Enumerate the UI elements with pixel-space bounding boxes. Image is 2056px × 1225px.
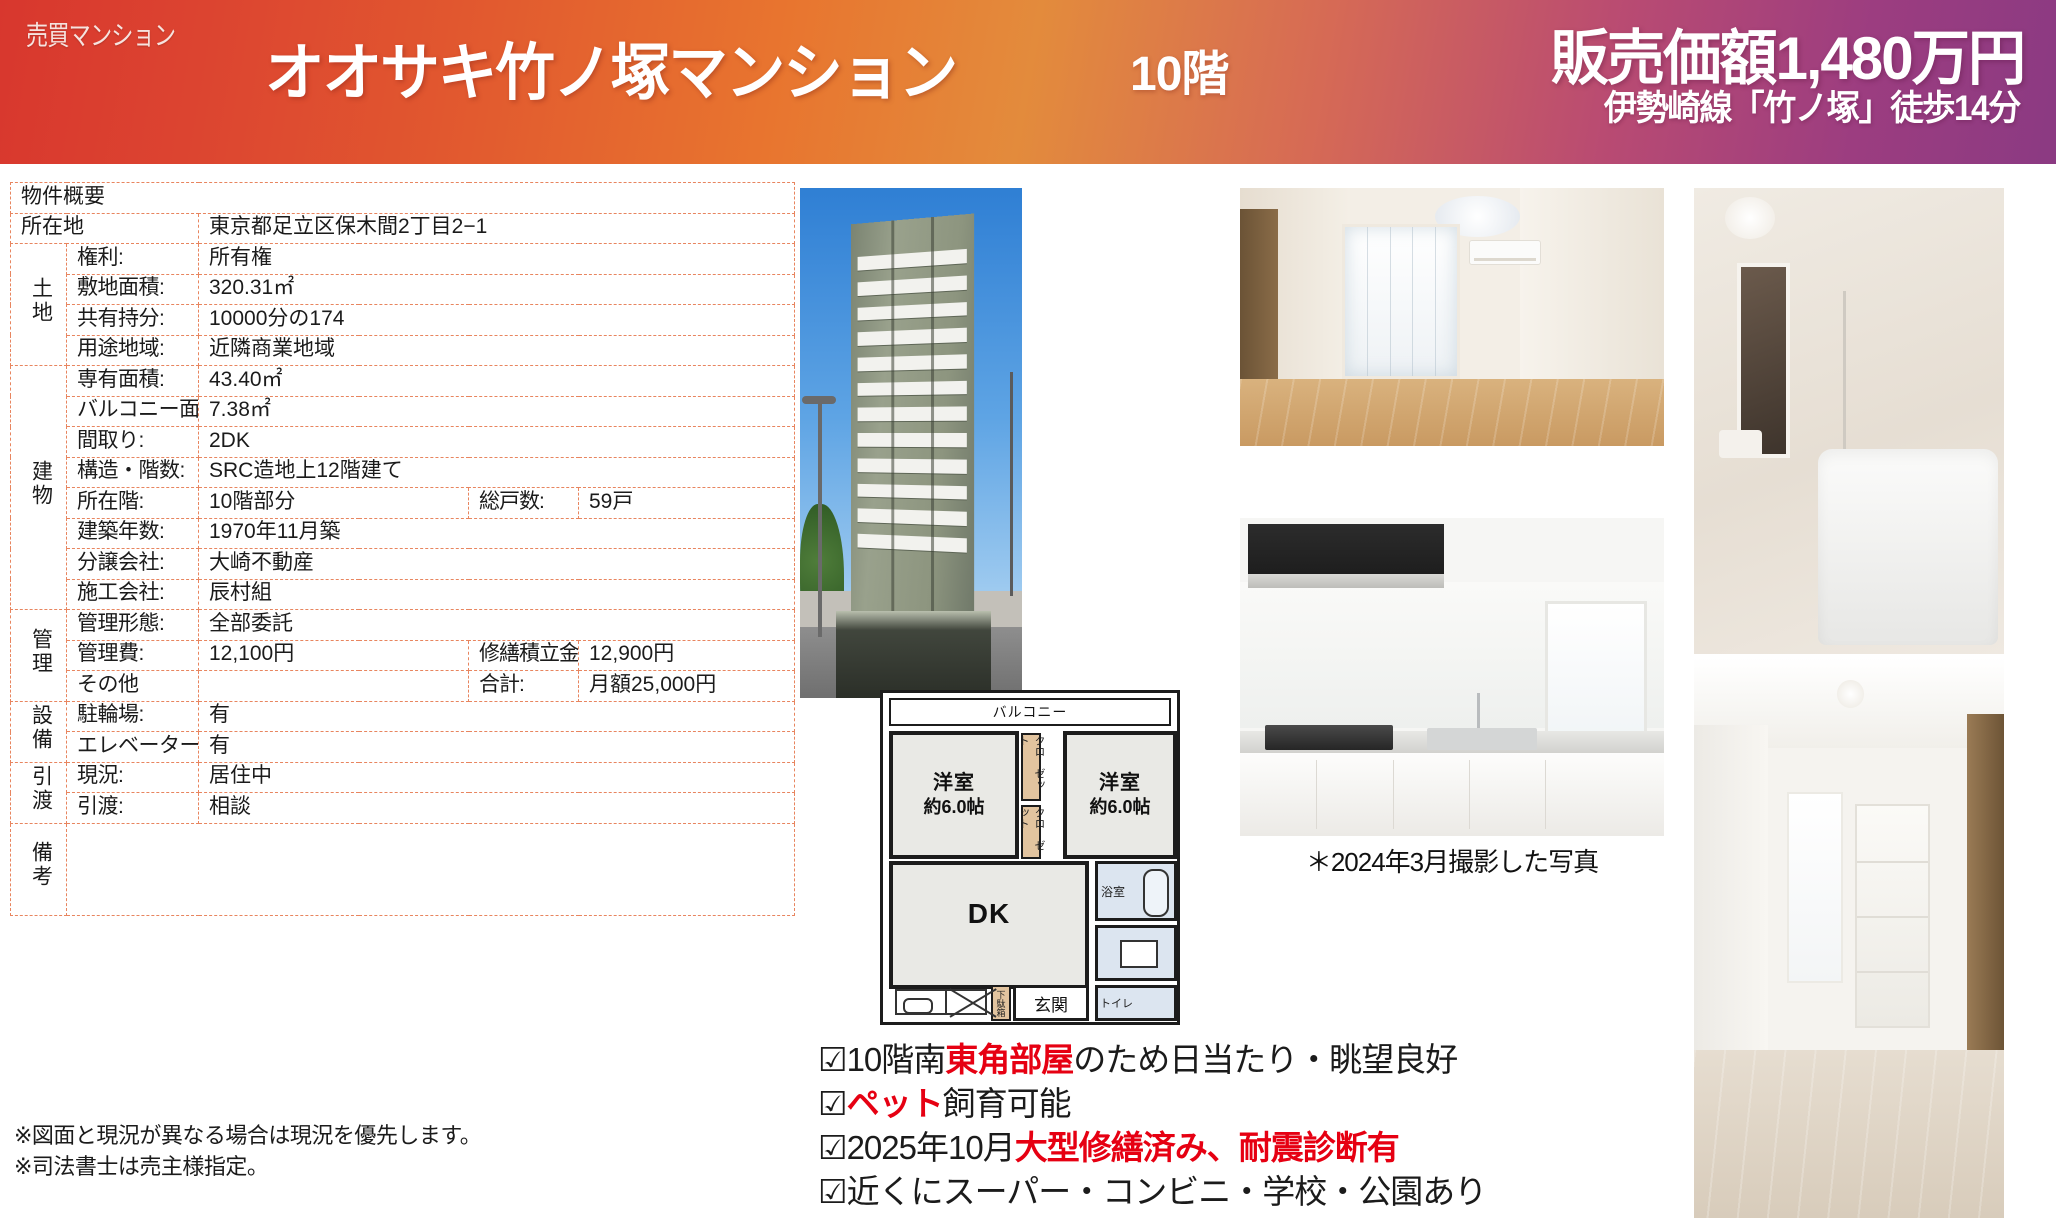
- header-kicker: 売買マンション: [26, 14, 175, 53]
- group-label-land: 土地: [11, 244, 67, 366]
- row-label: 駐輪場:: [67, 701, 199, 732]
- row-label: 専有面積:: [67, 366, 199, 397]
- plan-bath: 浴室: [1095, 861, 1177, 921]
- floor-plan-diagram: バルコニー 洋室 約6.0帖 洋室 約6.0帖 クローゼット クローゼット DK…: [880, 690, 1180, 1025]
- range-hood: [1248, 524, 1443, 588]
- plan-balcony: バルコニー: [889, 698, 1171, 726]
- row-label: その他: [67, 671, 199, 702]
- table-row: 敷地面積: 320.31㎡: [11, 274, 795, 305]
- row-value-2: 59戸: [579, 488, 795, 519]
- feature-bullets: ☑10階南東角部屋のため日当たり・眺望良好 ☑ペット飼育可能 ☑2025年10月…: [818, 1038, 1918, 1214]
- row-label: 管理費:: [67, 640, 199, 671]
- table-row: バルコニー面積: 7.38㎡: [11, 396, 795, 427]
- footnotes: ※図面と現況が異なる場合は現況を優先します。 ※司法書士は売主様指定。: [14, 1120, 481, 1182]
- row-value: SRC造地上12階建て: [199, 457, 795, 488]
- row-value: 居住中: [199, 762, 795, 793]
- group-label-management: 管理: [11, 610, 67, 702]
- plan-bathtub-icon: [1143, 869, 1169, 917]
- list-item: ☑ペット飼育可能: [818, 1082, 1918, 1126]
- plan-room-2: 洋室 約6.0帖: [1063, 731, 1177, 859]
- table-row: 建築年数: 1970年11月築: [11, 518, 795, 549]
- group-label-building: 建物: [11, 366, 67, 610]
- row-value-2: 12,900円: [579, 640, 795, 671]
- group-label-handover: 引渡: [11, 762, 67, 823]
- row-label: 建築年数:: [67, 518, 199, 549]
- plan-dk: DK: [889, 861, 1089, 989]
- table-row: 建物 専有面積: 43.40㎡: [11, 366, 795, 397]
- remarks-value: [67, 823, 795, 915]
- row-value: 有: [199, 732, 795, 763]
- bathtub: [1818, 449, 1998, 645]
- row-value: 43.40㎡: [199, 366, 795, 397]
- table-row: 所在地 東京都足立区保木間2丁目2−1: [11, 213, 795, 244]
- header-floor: 10階: [1130, 34, 1228, 104]
- cabinets: [1240, 753, 1664, 836]
- row-label: 引渡:: [67, 793, 199, 824]
- list-item: ☑近くにスーパー・コンビニ・学校・公園あり: [818, 1170, 1918, 1214]
- row-value: 7.38㎡: [199, 396, 795, 427]
- row-label: エレベーター:: [67, 732, 199, 763]
- row-label: 用途地域:: [67, 335, 199, 366]
- row-value: 所有権: [199, 244, 795, 275]
- group-label-equipment: 設備: [11, 701, 67, 762]
- row-value: 大崎不動産: [199, 549, 795, 580]
- row-value: 近隣商業地域: [199, 335, 795, 366]
- row-value: [199, 671, 469, 702]
- row-value: 12,100円: [199, 640, 469, 671]
- row-value: 有: [199, 701, 795, 732]
- table-row: 共有持分: 10000分の174: [11, 305, 795, 336]
- gas-stove: [1265, 725, 1392, 750]
- table-row: 物件概要: [11, 183, 795, 214]
- table-row: 間取り: 2DK: [11, 427, 795, 458]
- header-access: 伊勢崎線「竹ノ塚」徒歩14分: [1604, 80, 2020, 131]
- bathroom-interior: [1694, 188, 2004, 654]
- footnote-1: ※図面と現況が異なる場合は現況を優先します。: [14, 1120, 481, 1151]
- table-row: 備考: [11, 823, 795, 915]
- table-row: エレベーター: 有: [11, 732, 795, 763]
- row-value: 1970年11月築: [199, 518, 795, 549]
- row-label: 敷地面積:: [67, 274, 199, 305]
- street-lamp: [818, 402, 822, 637]
- room-interior: [1240, 188, 1664, 446]
- property-spec-table: 物件概要 所在地 東京都足立区保木間2丁目2−1 土地 権利: 所有権 敷地面積…: [10, 182, 794, 916]
- row-value: 相談: [199, 793, 795, 824]
- row-label-2: 合計:: [469, 671, 579, 702]
- plan-washroom: [1095, 925, 1177, 981]
- window: [1342, 224, 1461, 379]
- row-value: 2DK: [199, 427, 795, 458]
- row-label: 所在階:: [67, 488, 199, 519]
- row-label: バルコニー面積:: [67, 396, 199, 427]
- table-row: 所在階: 10階部分 総戸数: 59戸: [11, 488, 795, 519]
- bath-mirror: [1737, 263, 1790, 459]
- group-label-remarks: 備考: [11, 823, 67, 915]
- table-row: 用途地域: 近隣商業地域: [11, 335, 795, 366]
- header-banner: 売買マンション オオサキ竹ノ塚マンション 10階 販売価額1,480万円 伊勢崎…: [0, 0, 2056, 164]
- row-label: 施工会社:: [67, 579, 199, 610]
- spec-section-title: 物件概要: [11, 183, 795, 214]
- row-label: 管理形態:: [67, 610, 199, 641]
- row-value: 辰村組: [199, 579, 795, 610]
- row-value: 全部委託: [199, 610, 795, 641]
- row-value: 320.31㎡: [199, 274, 795, 305]
- kitchen-photo: [1240, 518, 1664, 836]
- row-value-2: 月額25,000円: [579, 671, 795, 702]
- row-label: 共有持分:: [67, 305, 199, 336]
- list-item: ☑2025年10月大型修繕済み、耐震診断有: [818, 1126, 1918, 1170]
- row-value: 10階部分: [199, 488, 469, 519]
- row-label: 構造・階数:: [67, 457, 199, 488]
- photo-caption: ＊2024年3月撮影した写真: [1240, 842, 1664, 879]
- plan-toilet: トイレ: [1095, 985, 1177, 1021]
- sink: [1427, 728, 1537, 750]
- plan-room-1: 洋室 約6.0帖: [889, 731, 1019, 859]
- table-row: 土地 権利: 所有権: [11, 244, 795, 275]
- table-row: その他 合計: 月額25,000円: [11, 671, 795, 702]
- utility-pole: [1010, 372, 1013, 596]
- table-row: 施工会社: 辰村組: [11, 579, 795, 610]
- row-label: 権利:: [67, 244, 199, 275]
- ground-floor-shops: [836, 611, 991, 698]
- plan-storage-icon: [945, 989, 987, 1015]
- address-label: 所在地: [11, 213, 199, 244]
- list-item: ☑10階南東角部屋のため日当たり・眺望良好: [818, 1038, 1918, 1082]
- table-row: 管理 管理形態: 全部委託: [11, 610, 795, 641]
- door: [1240, 209, 1278, 390]
- building: [851, 213, 974, 652]
- towel-rail: [1719, 430, 1762, 458]
- row-label: 現況:: [67, 762, 199, 793]
- plan-closet-1: クローゼット: [1021, 733, 1041, 801]
- bath-light-icon: [1725, 197, 1775, 239]
- row-label: 間取り:: [67, 427, 199, 458]
- table-row: 構造・階数: SRC造地上12階建て: [11, 457, 795, 488]
- wood-floor: [1240, 379, 1664, 446]
- footnote-2: ※司法書士は売主様指定。: [14, 1151, 481, 1182]
- table-row: 管理費: 12,100円 修繕積立金: 12,900円: [11, 640, 795, 671]
- row-label-2: 修繕積立金:: [469, 640, 579, 671]
- shelving-unit: [1855, 804, 1929, 1028]
- table-row: 引渡 現況: 居住中: [11, 762, 795, 793]
- plan-closet-2: クローゼット: [1021, 805, 1041, 859]
- row-value: 10000分の174: [199, 305, 795, 336]
- row-label: 分譲会社:: [67, 549, 199, 580]
- air-conditioner: [1469, 240, 1541, 266]
- table-row: 分譲会社: 大崎不動産: [11, 549, 795, 580]
- address-value: 東京都足立区保木間2丁目2−1: [199, 213, 795, 244]
- faucet: [1477, 693, 1480, 728]
- living-window: [1787, 792, 1843, 982]
- plan-entrance: 玄関: [1013, 985, 1089, 1021]
- table-row: 設備 駐輪場: 有: [11, 701, 795, 732]
- table-row: 引渡: 相談: [11, 793, 795, 824]
- flyer-page: 売買マンション オオサキ竹ノ塚マンション 10階 販売価額1,480万円 伊勢崎…: [0, 0, 2056, 1225]
- shower-hose: [1843, 291, 1846, 449]
- bathroom-photo: [1694, 188, 2004, 654]
- room-photo: [1240, 188, 1664, 446]
- kitchen-interior: [1240, 518, 1664, 836]
- property-title: オオサキ竹ノ塚マンション: [265, 22, 956, 112]
- row-label-2: 総戸数:: [469, 488, 579, 519]
- exterior-photo: [800, 188, 1022, 698]
